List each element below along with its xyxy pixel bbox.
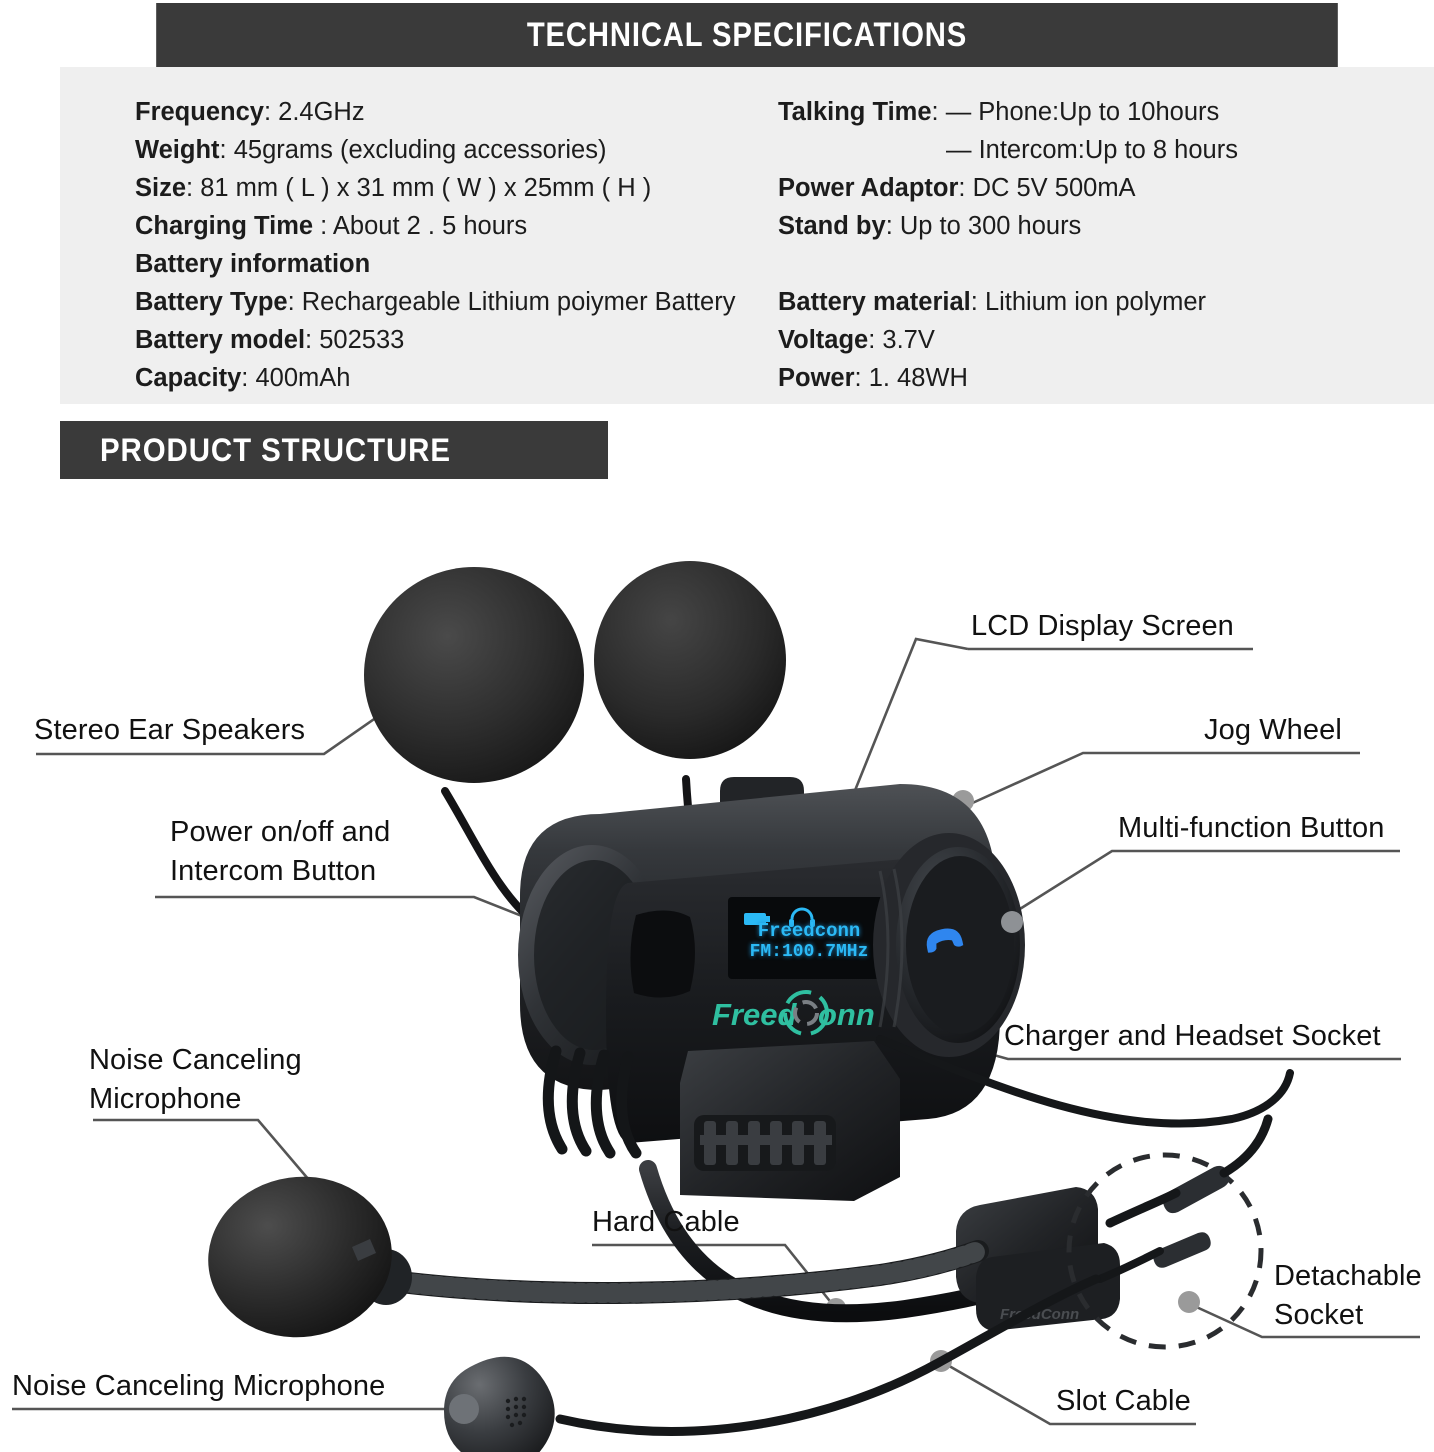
callout-power-onoff-intercom-button: Power on/off and Intercom Button (170, 813, 390, 891)
callout-charger-and-headset-socket: Charger and Headset Socket (1004, 1017, 1381, 1055)
spec-key: Battery information (135, 250, 370, 278)
callout-detachable-line-1: Detachable (1274, 1257, 1422, 1296)
spec-row-stand-by: Stand by: Up to 300 hours (778, 207, 1398, 245)
spec-row-battery-material: Battery material: Lithium ion polymer (778, 283, 1398, 321)
callout-noise-mic-line-2: Microphone (89, 1080, 302, 1119)
spec-row-power: Power: 1. 48WH (778, 359, 1398, 397)
technical-specifications-banner: TECHNICAL SPECIFICATIONS (156, 3, 1338, 67)
socket-cable-upper-tail (1224, 1119, 1268, 1173)
spec-row-voltage: Voltage: 3.7V (778, 321, 1398, 359)
spec-key: Stand by (778, 212, 886, 240)
helmet-clamp-mount (548, 1041, 900, 1201)
spec-value: DC 5V 500mA (973, 174, 1136, 202)
callout-noise-mic-line-1: Noise Canceling (89, 1041, 302, 1080)
spec-value: 400mAh (255, 364, 350, 392)
lcd-brand-text: Freedconn (736, 921, 882, 942)
spec-sep: : (855, 364, 869, 392)
spec-key: Battery material (778, 288, 971, 316)
spec-sep: : (971, 288, 985, 316)
power-onoff-intercom-button (630, 910, 695, 997)
spec-row-talking-time-intercom: — Intercom:Up to 8 hours (778, 131, 1398, 169)
freedconn-logo-text-2: onn (818, 997, 875, 1032)
leader-multifunction-button (1004, 851, 1400, 919)
technical-specifications-title: TECHNICAL SPECIFICATIONS (527, 16, 967, 55)
specifications-panel: Frequency: 2.4GHz Weight: 45grams (exclu… (60, 67, 1434, 404)
callout-detachable-line-2: Socket (1274, 1296, 1422, 1335)
spec-value: — Intercom:Up to 8 hours (946, 136, 1238, 164)
spec-sep: : (264, 98, 278, 126)
spec-row-capacity: Capacity: 400mAh (135, 359, 795, 397)
callout-hard-cable: Hard Cable (592, 1203, 740, 1241)
spec-value: 3.7V (882, 326, 934, 354)
spec-sep: : (313, 212, 333, 240)
spec-row-battery-model: Battery model: 502533 (135, 321, 795, 359)
spec-key: Battery model (135, 326, 305, 354)
product-structure-title: PRODUCT STRUCTURE (100, 432, 451, 469)
spec-key: Power (778, 364, 855, 392)
specifications-right-column: Talking Time: — Phone:Up to 10hours — In… (778, 93, 1398, 397)
callout-slot-cable: Slot Cable (1056, 1382, 1191, 1420)
spec-value: Lithium ion polymer (985, 288, 1206, 316)
gooseneck-boom (360, 1249, 978, 1305)
spec-value: 2.4GHz (278, 98, 364, 126)
spec-key: Charging Time (135, 212, 313, 240)
spec-sep: : (305, 326, 319, 354)
lcd-screen-content: Freedconn FM:100.7MHz (736, 921, 882, 963)
callout-power-line-2: Intercom Button (170, 852, 390, 891)
spec-key: Capacity (135, 364, 241, 392)
spec-key: Size (135, 174, 186, 202)
earbud-nozzle (449, 1394, 479, 1424)
product-structure-banner: PRODUCT STRUCTURE (60, 421, 608, 479)
spec-sep: : (958, 174, 972, 202)
callout-multi-function-button: Multi-function Button (1118, 809, 1384, 847)
multi-function-button (1001, 911, 1023, 933)
product-structure-diagram: Freed onn (0, 479, 1434, 1452)
spec-key: Battery Type (135, 288, 288, 316)
spec-value: Up to 300 hours (900, 212, 1081, 240)
callout-noise-canceling-microphone: Noise Canceling Microphone (89, 1041, 302, 1119)
spec-key: Weight (135, 136, 220, 164)
spec-sep: : (220, 136, 234, 164)
spec-row-battery-information: Battery information (135, 245, 795, 283)
callout-noise-canceling-microphone-bottom: Noise Canceling Microphone (12, 1367, 385, 1405)
spec-sep: : (932, 98, 946, 126)
spec-value: Rechargeable Lithium poiymer Battery (302, 288, 736, 316)
spec-key: Frequency (135, 98, 264, 126)
freedconn-logo: Freed onn (712, 992, 875, 1034)
callout-stereo-ear-speakers: Stereo Ear Speakers (34, 711, 305, 749)
spec-row-frequency: Frequency: 2.4GHz (135, 93, 795, 131)
stereo-speaker-right (594, 561, 786, 759)
callout-lcd-display-screen: LCD Display Screen (971, 607, 1234, 645)
dot-detachable-socket (1178, 1291, 1200, 1313)
spec-key: Talking Time (778, 98, 932, 126)
spec-row-size: Size: 81 mm ( L ) x 31 mm ( W ) x 25mm (… (135, 169, 795, 207)
spec-sep: : (288, 288, 302, 316)
spec-spacer (778, 245, 1398, 283)
spec-value: 81 mm ( L ) x 31 mm ( W ) x 25mm ( H ) (200, 174, 651, 202)
callout-power-line-1: Power on/off and (170, 813, 390, 852)
noise-canceling-microphone (198, 1165, 402, 1349)
spec-key: Voltage (778, 326, 868, 354)
spec-value: 502533 (319, 326, 404, 354)
spec-value: About 2 . 5 hours (333, 212, 527, 240)
spec-sep: : (868, 326, 882, 354)
spec-value: 45grams (excluding accessories) (234, 136, 607, 164)
spec-sep: : (886, 212, 900, 240)
callout-detachable-socket: Detachable Socket (1274, 1257, 1422, 1335)
spec-key: Power Adaptor (778, 174, 958, 202)
spec-row-weight: Weight: 45grams (excluding accessories) (135, 131, 795, 169)
spec-sep: : (241, 364, 255, 392)
spec-row-charging-time: Charging Time : About 2 . 5 hours (135, 207, 795, 245)
lcd-fm-text: FM:100.7MHz (736, 942, 882, 963)
specifications-left-column: Frequency: 2.4GHz Weight: 45grams (exclu… (135, 93, 795, 397)
spec-value: 1. 48WH (869, 364, 968, 392)
spec-row-battery-type: Battery Type: Rechargeable Lithium poiym… (135, 283, 795, 321)
spec-row-power-adaptor: Power Adaptor: DC 5V 500mA (778, 169, 1398, 207)
callout-jog-wheel: Jog Wheel (1204, 711, 1342, 749)
spec-row-talking-time: Talking Time: — Phone:Up to 10hours (778, 93, 1398, 131)
stereo-speaker-left (364, 567, 584, 783)
leader-jog-wheel (968, 753, 1360, 805)
detachable-socket-plug-upper (1163, 1166, 1229, 1213)
spec-value: — Phone:Up to 10hours (946, 98, 1220, 126)
spec-sep: : (186, 174, 200, 202)
